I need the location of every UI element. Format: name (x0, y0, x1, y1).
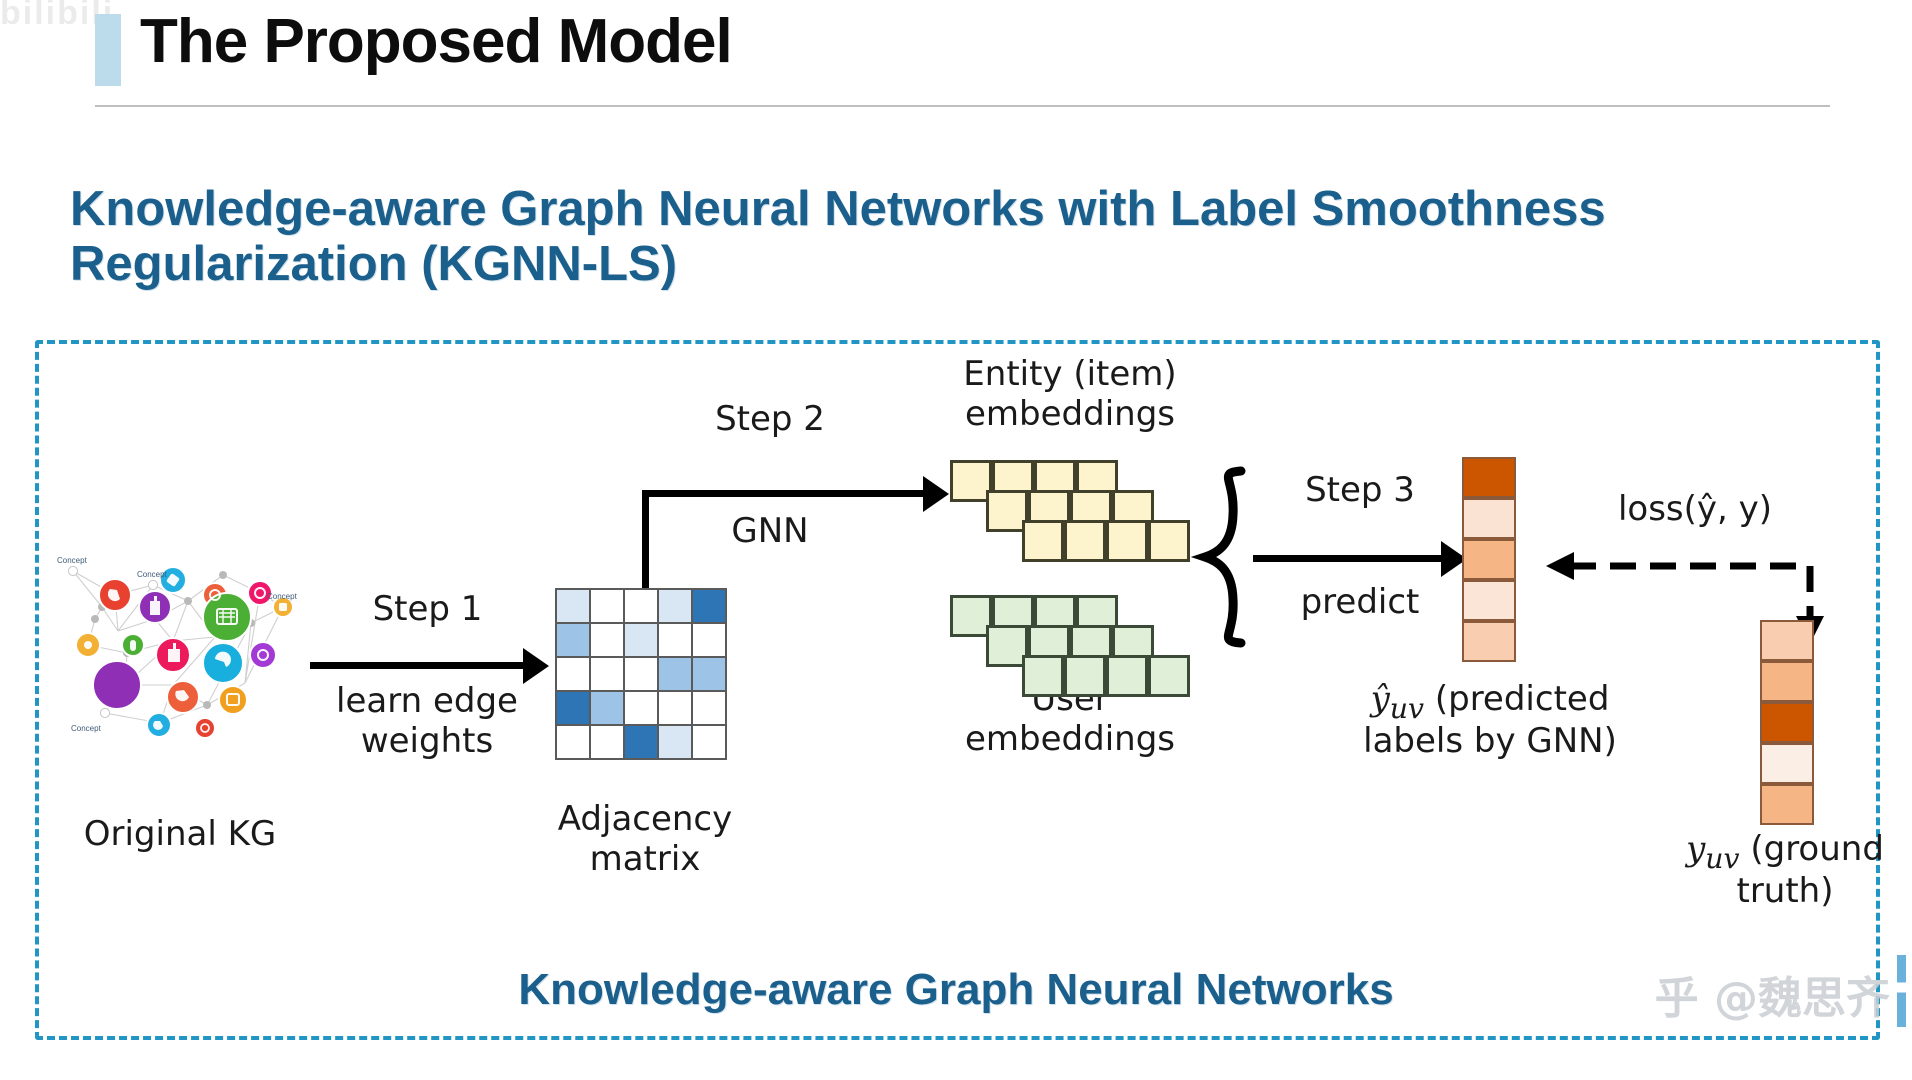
diagram-bottom-caption: Knowledge-aware Graph Neural Networks (0, 965, 1912, 1015)
step1-label: Step 1 (310, 590, 545, 629)
adjacency-cell-4-3 (659, 726, 691, 758)
header-divider (95, 105, 1830, 107)
entity-embedding-cell (1106, 520, 1148, 562)
adjacency-cell-4-2 (625, 726, 657, 758)
user-embedding-cell (1064, 655, 1106, 697)
entity-embeddings-label-line2: embeddings (905, 395, 1235, 434)
entity-embeddings-label-line1: Entity (item) (905, 355, 1235, 394)
predicted-labels-caption-line2: labels by GNN) (1325, 722, 1655, 761)
adjacency-cell-0-4 (693, 590, 725, 622)
knowledge-graph-illustration: Concept Concept Concept Concept (55, 545, 305, 735)
predicted-labels-column (1462, 457, 1516, 662)
zhihu-logo-bar (1897, 955, 1906, 1027)
step1-arrow-group: Step 1 learn edge weights (310, 590, 570, 770)
adjacency-cell-2-3 (659, 658, 691, 690)
y-hat-symbol: ŷuv (1371, 679, 1424, 719)
predicted-label-cell-1 (1462, 498, 1516, 539)
ground-truth-cell-4 (1760, 784, 1814, 825)
adjacency-cell-1-1 (591, 624, 623, 656)
user-embedding-cell (1148, 655, 1190, 697)
adjacency-cell-0-1 (591, 590, 623, 622)
adjacency-matrix (555, 588, 727, 760)
adjacency-cell-2-4 (693, 658, 725, 690)
page-title: The Proposed Model (140, 6, 732, 77)
predicted-label-cell-3 (1462, 580, 1516, 621)
adjacency-cell-2-2 (625, 658, 657, 690)
adjacency-cell-1-3 (659, 624, 691, 656)
entity-embedding-cell (1148, 520, 1190, 562)
adjacency-cell-1-2 (625, 624, 657, 656)
step2-arrow-horizontal (642, 490, 927, 497)
adjacency-cell-3-2 (625, 692, 657, 724)
adjacency-cell-3-0 (557, 692, 589, 724)
adjacency-matrix-label-line1: Adjacency (500, 800, 790, 839)
kg-concept-label: Concept (267, 592, 298, 601)
adjacency-cell-3-1 (591, 692, 623, 724)
predicted-label-cell-2 (1462, 539, 1516, 580)
step3-arrow-line (1253, 555, 1443, 562)
predicted-label-cell-0 (1462, 457, 1516, 498)
user-embedding-cell (1106, 655, 1148, 697)
adjacency-cell-4-0 (557, 726, 589, 758)
predicted-labels-caption-line1: ŷuv (predicted (1325, 680, 1655, 725)
adjacency-cell-1-4 (693, 624, 725, 656)
adjacency-cell-3-3 (659, 692, 691, 724)
loss-label: loss(ŷ, y) (1575, 490, 1815, 529)
adjacency-cell-0-2 (625, 590, 657, 622)
section-heading: Knowledge-aware Graph Neural Networks wi… (70, 182, 1630, 292)
step3-arrow-group: Step 3 predict (1195, 465, 1485, 655)
step3-action: predict (1250, 583, 1470, 622)
step2-action: GNN (620, 512, 920, 551)
ground-truth-cell-1 (1760, 661, 1814, 702)
original-kg-label: Original KG (45, 815, 315, 854)
ground-truth-column (1760, 620, 1814, 825)
adjacency-cell-3-4 (693, 692, 725, 724)
user-embedding-cell (1022, 655, 1064, 697)
entity-embedding-cell (1064, 520, 1106, 562)
adjacency-matrix-label-line2: matrix (500, 840, 790, 879)
adjacency-cell-2-1 (591, 658, 623, 690)
entity-embedding-row (1022, 520, 1190, 562)
zhihu-watermark: 乎 @魏思齐 (1655, 962, 1890, 1026)
y-symbol: yuv (1686, 829, 1739, 869)
ground-truth-cell-3 (1760, 743, 1814, 784)
step2-arrow-head (923, 476, 949, 512)
adjacency-cell-4-1 (591, 726, 623, 758)
adjacency-cell-0-3 (659, 590, 691, 622)
step3-label: Step 3 (1250, 471, 1470, 510)
adjacency-cell-0-0 (557, 590, 589, 622)
step2-label: Step 2 (620, 400, 920, 439)
ground-truth-caption-line2: truth) (1650, 872, 1912, 911)
step1-arrow-head (523, 648, 549, 684)
adjacency-cell-1-0 (557, 624, 589, 656)
step1-action-line1: learn edge (302, 682, 552, 721)
adjacency-cell-2-0 (557, 658, 589, 690)
adjacency-cell-4-4 (693, 726, 725, 758)
entity-embedding-cell (1022, 520, 1064, 562)
title-accent-bar (95, 14, 121, 86)
kg-concept-label: Concept (137, 570, 168, 579)
step1-action-line2: weights (302, 722, 552, 761)
user-embedding-row (1022, 655, 1190, 697)
step1-arrow-line (310, 662, 525, 669)
user-embeddings-label-line2: embeddings (905, 720, 1235, 759)
ground-truth-caption-line1: yuv (ground (1650, 830, 1912, 875)
ground-truth-cell-2 (1760, 702, 1814, 743)
ground-truth-cell-0 (1760, 620, 1814, 661)
kg-concept-label: Concept (57, 556, 88, 565)
predicted-label-cell-4 (1462, 621, 1516, 662)
kg-concept-label: Concept (71, 724, 102, 733)
